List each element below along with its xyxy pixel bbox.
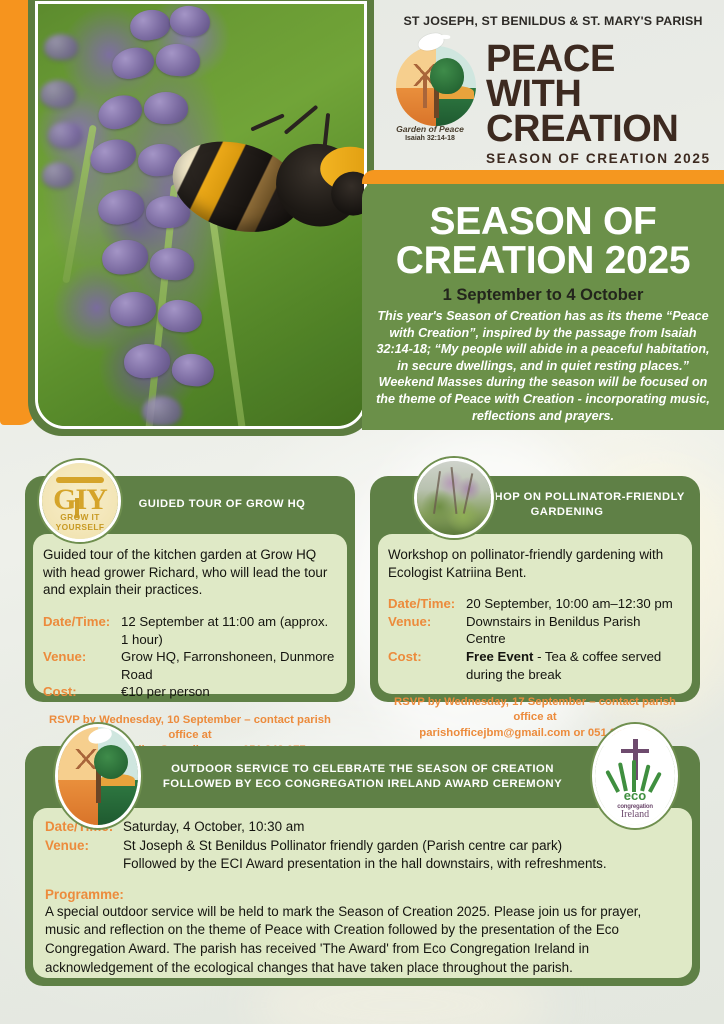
eco-congregation-ireland-logo: eco congregation Ireland	[592, 724, 678, 828]
card-intro-grow-hq: Guided tour of the kitchen garden at Gro…	[43, 546, 337, 599]
banner-title-line-1: SEASON OF	[430, 200, 657, 243]
detail-key-datetime: Date/Time:	[388, 595, 466, 613]
garden-of-peace-reference: Isaiah 32:14-18	[382, 135, 478, 142]
garden-of-peace-logo	[388, 36, 484, 132]
detail-value-venue: Downstairs in Benildus Parish Centre	[466, 613, 682, 648]
garden-of-peace-circle	[396, 46, 476, 126]
detail-key-venue: Venue:	[43, 648, 121, 683]
details-list-grow-hq: Date/Time: 12 September at 11:00 am (app…	[43, 613, 337, 701]
outdoor-service-card: eco congregation Ireland OUTDOOR SERVICE…	[25, 746, 700, 986]
banner-orange-bar	[362, 170, 724, 184]
brand-line-1: PEACE	[486, 42, 724, 77]
hero-photo-frame	[28, 0, 374, 436]
brandmark: PEACE WITH CREATION SEASON OF CREATION 2…	[486, 42, 724, 166]
banner-title-line-2: CREATION 2025	[396, 239, 690, 282]
green-ground	[98, 780, 138, 825]
programme-text: A special outdoor service will be held t…	[45, 903, 678, 978]
detail-row: Date/Time: 12 September at 11:00 am (app…	[43, 613, 337, 648]
garden-photo-badge	[414, 458, 494, 538]
detail-row: Date/Time: Saturday, 4 October, 10:30 am	[45, 818, 678, 837]
detail-key-venue: Venue:	[388, 613, 466, 648]
card-intro-workshop: Workshop on pollinator-friendly gardenin…	[388, 546, 682, 581]
dry-ground	[58, 780, 98, 825]
garden-of-peace-badge	[55, 724, 141, 828]
eci-logo-art: eco congregation Ireland	[595, 727, 675, 825]
detail-value-cost: €10 per person	[121, 683, 337, 701]
details-list-workshop: Date/Time: 20 September, 10:00 am–12:30 …	[388, 595, 682, 683]
detail-row: Date/Time: 20 September, 10:00 am–12:30 …	[388, 595, 682, 613]
grass-blade	[632, 760, 636, 791]
garden-of-peace-caption: Garden of Peace	[382, 124, 478, 134]
banner-description: This year's Season of Creation has as it…	[370, 308, 716, 424]
poster-header: ST JOSEPH, ST BENILDUS & ST. MARY'S PARI…	[382, 0, 724, 172]
detail-value-venue: St Joseph & St Benildus Pollinator frien…	[123, 837, 678, 856]
bee-on-lavender-photo	[38, 4, 364, 426]
hero-photo-inner	[35, 1, 367, 429]
cost-highlight: Free Event	[466, 649, 533, 664]
programme-label: Programme:	[45, 887, 678, 902]
living-tree-icon	[430, 58, 464, 94]
event-card-pollinator-workshop: WORKSHOP ON POLLINATOR-FRIENDLY GARDENIN…	[370, 476, 700, 702]
outdoor-heading-line-2: FOLLOWED BY ECO CONGREGATION IRELAND AWA…	[163, 777, 562, 792]
season-banner: SEASON OF CREATION 2025 1 September to 4…	[362, 180, 724, 430]
garden-photo-art	[417, 461, 491, 535]
eci-eco-text: eco	[595, 788, 675, 803]
detail-value-datetime: 20 September, 10:00 am–12:30 pm	[466, 595, 682, 613]
banner-dates: 1 September to 4 October	[362, 286, 724, 305]
cross-icon-horizontal	[621, 749, 650, 753]
rsvp-line-1: RSVP by Wednesday, 17 September – contac…	[388, 695, 682, 726]
event-card-grow-hq: GIY GROW IT YOURSELF GUIDED TOUR OF GROW…	[25, 476, 355, 702]
eci-ireland-text: Ireland	[595, 809, 675, 820]
detail-key-cost: Cost:	[43, 683, 121, 701]
detail-value-datetime: 12 September at 11:00 am (approx. 1 hour…	[121, 613, 337, 648]
giy-logo-art: GIY GROW IT YOURSELF	[42, 463, 118, 539]
detail-key-cost: Cost:	[388, 648, 466, 683]
poster-canvas: ST JOSEPH, ST BENILDUS & ST. MARY'S PARI…	[0, 0, 724, 1024]
detail-value-venue: Grow HQ, Farronshoneen, Dunmore Road	[121, 648, 337, 683]
brand-subtitle: SEASON OF CREATION 2025	[486, 151, 724, 166]
detail-key-venue: Venue:	[45, 837, 123, 856]
detail-row: Cost: Free Event - Tea & coffee served d…	[388, 648, 682, 683]
brand-line-2: WITH CREATION	[486, 77, 724, 147]
brand-row: Garden of Peace Isaiah 32:14-18 PEACE WI…	[382, 36, 724, 156]
parish-name: ST JOSEPH, ST BENILDUS & ST. MARY'S PARI…	[382, 14, 724, 28]
venue-extra-line: Followed by the ECI Award presentation i…	[45, 855, 678, 874]
detail-row: Cost: €10 per person	[43, 683, 337, 701]
detail-row: Venue: Downstairs in Benildus Parish Cen…	[388, 613, 682, 648]
detail-row: Venue: St Joseph & St Benildus Pollinato…	[45, 837, 678, 856]
card-body-grow-hq: Guided tour of the kitchen garden at Gro…	[33, 534, 347, 694]
outdoor-heading-line-1: OUTDOOR SERVICE TO CELEBRATE THE SEASON …	[163, 762, 562, 777]
outdoor-service-body: Date/Time: Saturday, 4 October, 10:30 am…	[33, 808, 692, 978]
giy-logo-badge: GIY GROW IT YOURSELF	[39, 460, 121, 542]
detail-row: Venue: Grow HQ, Farronshoneen, Dunmore R…	[43, 648, 337, 683]
detail-value-cost: Free Event - Tea & coffee served during …	[466, 648, 682, 683]
banner-title: SEASON OF CREATION 2025	[374, 202, 712, 280]
detail-key-datetime: Date/Time:	[43, 613, 121, 648]
living-tree-icon	[94, 745, 128, 779]
giy-logo-tagline: GROW IT YOURSELF	[42, 512, 118, 532]
card-body-workshop: Workshop on pollinator-friendly gardenin…	[378, 534, 692, 694]
